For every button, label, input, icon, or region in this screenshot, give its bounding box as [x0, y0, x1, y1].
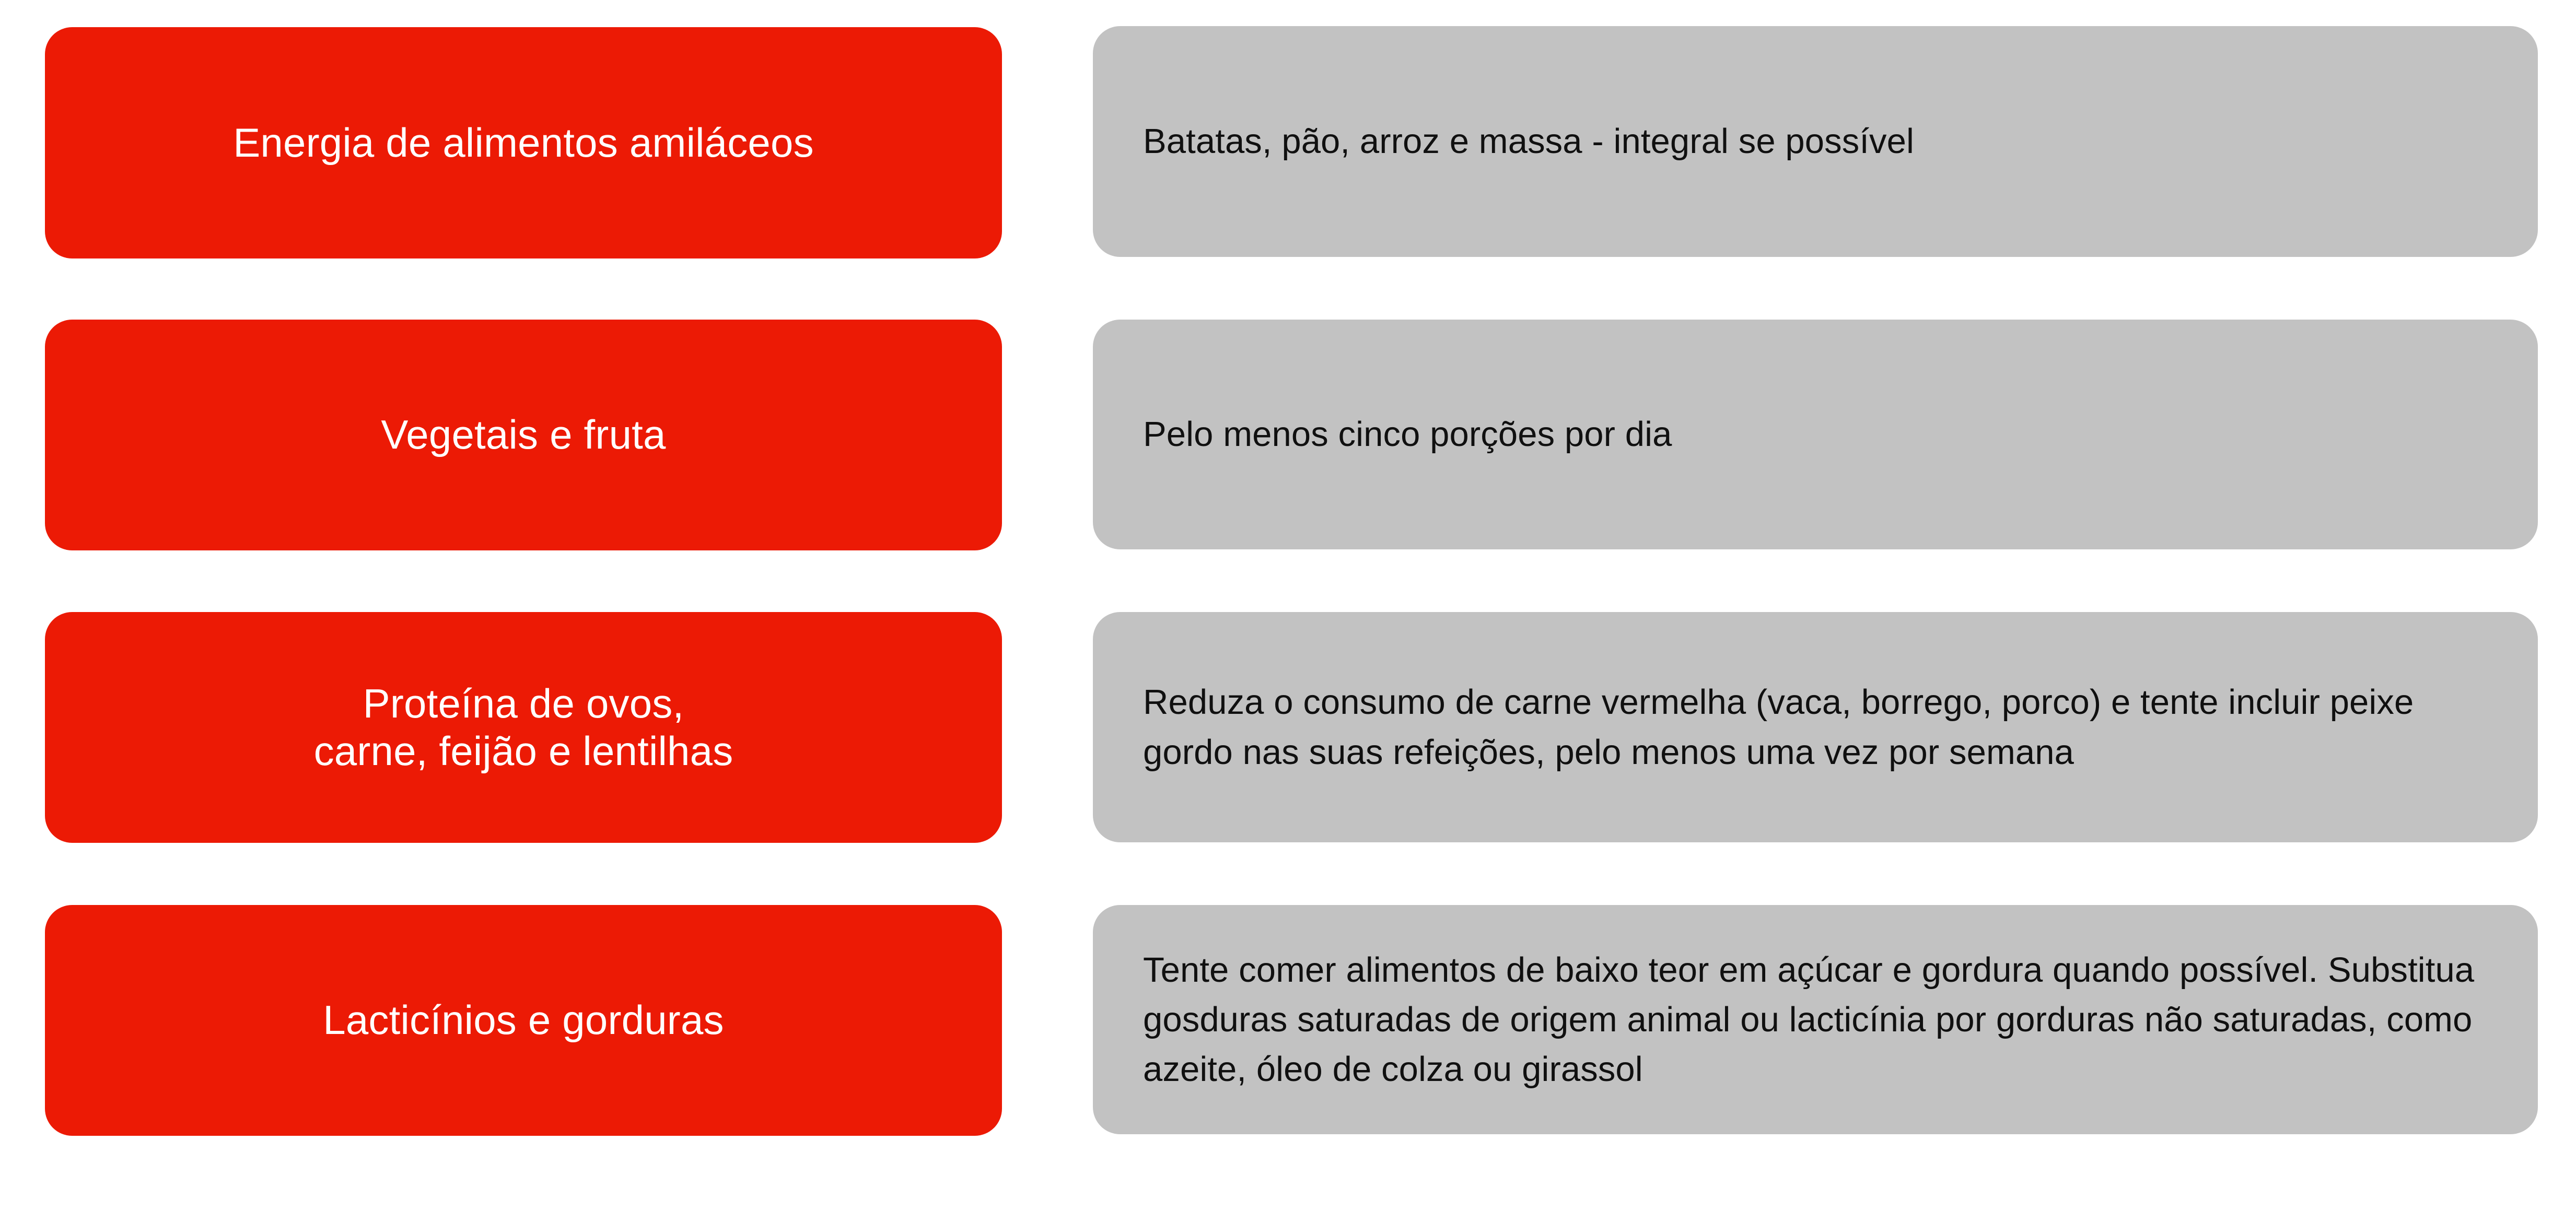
advice-text-2: Pelo menos cinco porções por dia	[1143, 409, 1672, 459]
category-card-4[interactable]: Lacticínios e gorduras	[45, 905, 1002, 1136]
advice-card-4[interactable]: Tente comer alimentos de baixo teor em a…	[1093, 905, 2538, 1134]
advice-card-3[interactable]: Reduza o consumo de carne vermelha (vaca…	[1093, 612, 2538, 842]
advice-text-3: Reduza o consumo de carne vermelha (vaca…	[1143, 677, 2488, 777]
advice-text-4: Tente comer alimentos de baixo teor em a…	[1143, 945, 2488, 1094]
category-label-4: Lacticínios e gorduras	[323, 996, 724, 1044]
category-card-3[interactable]: Proteína de ovos, carne, feijão e lentil…	[45, 612, 1002, 843]
food-group-row-2: Vegetais e fruta Pelo menos cinco porçõe…	[0, 0, 2576, 320]
category-card-2[interactable]: Vegetais e fruta	[45, 320, 1002, 550]
category-label-2: Vegetais e fruta	[381, 411, 666, 458]
food-groups-board: Energia de alimentos amiláceos Batatas, …	[0, 0, 2576, 1211]
category-label-3: Proteína de ovos, carne, feijão e lentil…	[314, 680, 733, 775]
advice-card-2[interactable]: Pelo menos cinco porções por dia	[1093, 320, 2538, 549]
